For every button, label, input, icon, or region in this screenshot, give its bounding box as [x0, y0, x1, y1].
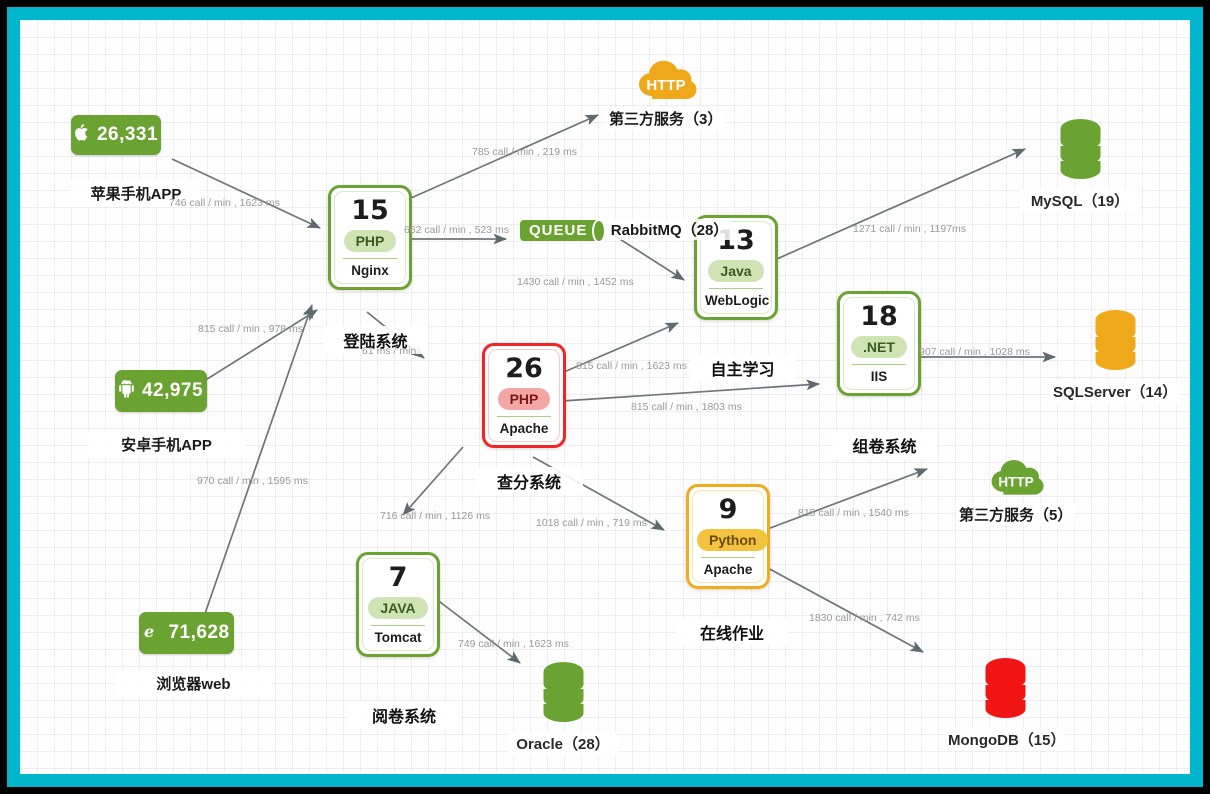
database-cylinder-icon: [539, 660, 588, 723]
edge-label-python9-thirdparty5: 815 call / min , 1540 ms: [798, 507, 909, 519]
client-value-web: 71,628: [168, 622, 229, 644]
app-server-python9: Apache: [697, 562, 759, 577]
db-node-sqlserver[interactable]: SQLServer（14）: [1050, 308, 1180, 403]
svg-text:HTTP: HTTP: [998, 474, 1033, 489]
client-value-android: 42,975: [142, 380, 203, 402]
app-tech-apache26: PHP: [498, 388, 551, 410]
app-tech-weblogic: Java: [708, 260, 763, 282]
app-separator: [852, 364, 906, 365]
app-count-nginx: 15: [339, 197, 401, 225]
svg-text:e: e: [144, 622, 154, 640]
edge-label-android-nginx: 815 call / min , 978 ms: [198, 323, 303, 335]
client-node-web[interactable]: e 71,628: [139, 612, 234, 654]
cloud-node-third-party-5[interactable]: HTTP 第三方服务（5）: [956, 448, 1075, 526]
edge-label-ios-nginx: 746 call / min , 1623 ms: [169, 197, 280, 209]
app-separator: [709, 288, 763, 289]
http-cloud-icon: HTTP: [988, 448, 1044, 496]
diagram-frame: 26,331 苹果手机APP 42,975 安卓手机APP e 71,628 浏…: [7, 7, 1203, 787]
edge-label-apache26-tomcat: 716 call / min , 1126 ms: [380, 510, 490, 522]
client-label-web: 浏览器web: [115, 670, 272, 697]
app-separator: [343, 258, 397, 259]
app-inner-nginx: 15 PHP Nginx: [334, 191, 406, 284]
db-node-mysql[interactable]: MySQL（19）: [1020, 117, 1140, 212]
database-cylinder-icon: [1091, 308, 1140, 371]
app-server-nginx: Nginx: [339, 263, 401, 278]
app-node-tomcat[interactable]: 7 JAVA Tomcat: [356, 552, 440, 657]
edge-apache26-tomcat: [403, 447, 463, 515]
queue-cylinder-icon: [592, 219, 606, 243]
apple-icon: [74, 124, 89, 146]
app-label-python9: 在线作业: [676, 618, 788, 646]
db-label-oracle: Oracle（28）: [508, 732, 618, 755]
ie-browser-icon: e: [143, 622, 160, 644]
app-count-python9: 9: [697, 496, 759, 524]
edge-label-python9-mongodb: 1830 call / min , 742 ms: [809, 612, 920, 624]
app-separator: [371, 625, 425, 626]
db-label-mysql: MySQL（19）: [1020, 189, 1140, 212]
queue-label: RabbitMQ（28）: [608, 219, 732, 240]
db-label-mongodb: MongoDB（15）: [945, 728, 1065, 751]
app-label-tomcat: 阅卷系统: [348, 701, 460, 729]
app-server-iis: IIS: [848, 369, 910, 384]
app-separator: [701, 557, 755, 558]
app-node-apache26[interactable]: 26 PHP Apache: [482, 343, 566, 448]
edge-label-apache26-weblogic: 815 call / min , 1623 ms: [576, 360, 687, 372]
client-label-android: 安卓手机APP: [88, 431, 245, 458]
edge-label-apache26-iis: 815 call / min , 1803 ms: [631, 401, 742, 413]
app-separator: [497, 416, 551, 417]
queue-node-rabbitmq[interactable]: QUEUE RabbitMQ（28）: [520, 218, 731, 241]
app-inner-python9: 9 Python Apache: [692, 490, 764, 583]
client-node-ios[interactable]: 26,331: [71, 115, 161, 155]
edge-label-web-nginx: 970 call / min , 1595 ms: [197, 475, 308, 487]
edge-apache26-iis: [547, 384, 819, 402]
cloud-label-third-party-5: 第三方服务（5）: [956, 503, 1075, 526]
db-node-oracle[interactable]: Oracle（28）: [508, 660, 618, 755]
client-node-android[interactable]: 42,975: [115, 370, 207, 412]
db-node-mongodb[interactable]: MongoDB（15）: [945, 656, 1065, 751]
app-inner-tomcat: 7 JAVA Tomcat: [362, 558, 434, 651]
app-tech-iis: .NET: [851, 336, 907, 358]
app-label-apache26: 查分系统: [475, 467, 583, 495]
app-server-weblogic: WebLogic: [705, 293, 767, 308]
client-value-ios: 26,331: [97, 124, 158, 146]
edge-nginx-thirdparty3: [393, 115, 598, 206]
diagram-canvas: 26,331 苹果手机APP 42,975 安卓手机APP e 71,628 浏…: [20, 20, 1190, 774]
cloud-node-third-party-3[interactable]: HTTP 第三方服务（3）: [606, 48, 725, 130]
app-node-python9[interactable]: 9 Python Apache: [686, 484, 770, 589]
app-tech-python9: Python: [697, 529, 768, 551]
edge-web-nginx: [200, 305, 312, 628]
app-count-iis: 18: [848, 303, 910, 331]
app-tech-nginx: PHP: [344, 230, 397, 252]
app-node-nginx[interactable]: 15 PHP Nginx: [328, 185, 412, 290]
http-cloud-icon: HTTP: [635, 48, 697, 100]
app-inner-apache26: 26 PHP Apache: [488, 349, 560, 442]
edge-python9-thirdparty5: [749, 469, 927, 536]
db-label-sqlserver: SQLServer（14）: [1050, 380, 1180, 403]
edge-label-weblogic-mysql: 1271 call / min , 1197ms: [853, 223, 966, 235]
cloud-label-third-party-3: 第三方服务（3）: [606, 107, 725, 130]
edge-label-tomcat-oracle: 749 call / min , 1623 ms: [458, 638, 569, 650]
edge-weblogic-mysql: [761, 149, 1025, 266]
queue-badge-text: QUEUE: [520, 220, 603, 241]
database-cylinder-icon: [981, 656, 1030, 719]
edge-label-apache26-python9: 1018 call / min , 719 ms: [536, 517, 647, 529]
app-server-tomcat: Tomcat: [367, 630, 429, 645]
android-icon: [119, 380, 134, 402]
app-node-iis[interactable]: 18 .NET IIS: [837, 291, 921, 396]
app-server-apache26: Apache: [493, 421, 555, 436]
edge-label-nginx-rabbitmq: 662 call / min , 523 ms: [404, 224, 509, 236]
app-label-iis: 组卷系统: [832, 431, 937, 459]
edge-label-nginx-apache26: 61 ms / min: [362, 345, 416, 357]
edge-label-iis-sqlserver: 907 call / min , 1028 ms: [919, 346, 1030, 358]
queue-badge: QUEUE: [520, 220, 603, 241]
app-tech-tomcat: JAVA: [368, 597, 427, 619]
edge-label-rabbitmq-weblogic: 1430 call / min , 1452 ms: [517, 276, 634, 288]
svg-text:HTTP: HTTP: [646, 77, 685, 94]
app-label-weblogic: 自主学习: [690, 354, 795, 382]
app-inner-iis: 18 .NET IIS: [843, 297, 915, 390]
edge-android-nginx: [196, 310, 317, 386]
app-count-apache26: 26: [493, 355, 555, 383]
edge-label-nginx-thirdparty3: 785 call / min , 219 ms: [472, 146, 577, 158]
database-cylinder-icon: [1056, 117, 1105, 180]
app-count-tomcat: 7: [367, 564, 429, 592]
